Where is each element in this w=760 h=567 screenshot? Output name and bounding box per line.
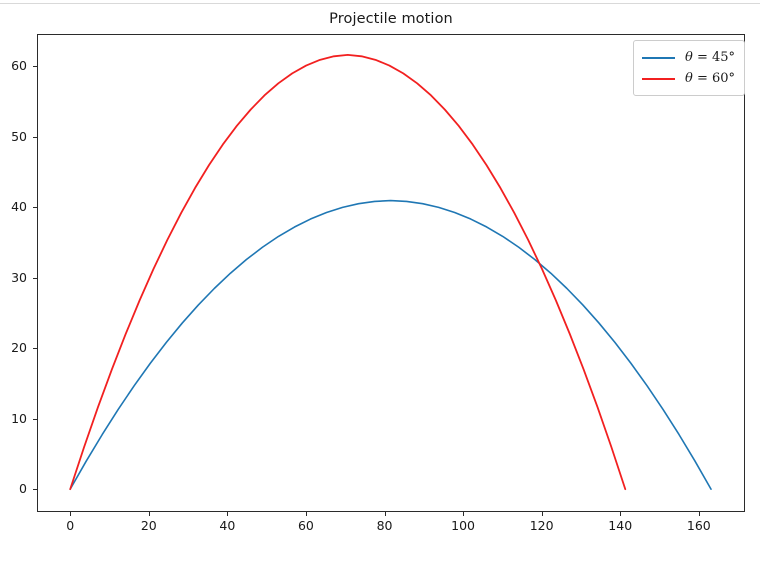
plot-curves-svg [38, 35, 744, 511]
top-divider-rule [0, 3, 760, 4]
x-tick-label-2: 40 [197, 518, 257, 533]
y-tick-label-0: 0 [0, 481, 27, 496]
x-tick-mark-8 [699, 512, 700, 516]
y-tick-mark-5 [33, 137, 37, 138]
y-tick-label-6: 60 [0, 58, 27, 73]
legend-swatch-series-1 [642, 78, 675, 80]
legend-swatch-series-0 [642, 57, 675, 59]
matplotlib-figure: Projectile motion 020406080100120140160 … [0, 5, 760, 567]
y-tick-mark-4 [33, 207, 37, 208]
y-tick-label-3: 30 [0, 270, 27, 285]
x-tick-label-6: 120 [512, 518, 572, 533]
series-curve-1 [70, 55, 625, 489]
y-tick-mark-3 [33, 278, 37, 279]
y-tick-label-4: 40 [0, 199, 27, 214]
x-tick-mark-2 [227, 512, 228, 516]
legend-item-series-0[interactable]: θ = 45° [642, 47, 735, 68]
x-tick-mark-4 [385, 512, 386, 516]
chart-legend[interactable]: θ = 45° θ = 60° [633, 40, 745, 96]
x-tick-label-5: 100 [433, 518, 493, 533]
screenshot-root: Projectile motion 020406080100120140160 … [0, 0, 760, 567]
y-tick-label-1: 10 [0, 411, 27, 426]
plot-area [37, 34, 745, 512]
legend-label-series-1: θ = 60° [685, 71, 735, 86]
x-tick-mark-1 [149, 512, 150, 516]
x-tick-mark-7 [620, 512, 621, 516]
x-tick-mark-3 [306, 512, 307, 516]
x-tick-mark-5 [463, 512, 464, 516]
y-tick-label-5: 50 [0, 129, 27, 144]
x-tick-label-8: 160 [669, 518, 729, 533]
y-tick-mark-1 [33, 419, 37, 420]
y-tick-mark-6 [33, 66, 37, 67]
x-tick-mark-6 [542, 512, 543, 516]
y-tick-mark-2 [33, 348, 37, 349]
y-tick-mark-0 [33, 489, 37, 490]
x-tick-label-7: 140 [590, 518, 650, 533]
x-tick-label-3: 60 [276, 518, 336, 533]
x-tick-label-1: 20 [119, 518, 179, 533]
x-tick-mark-0 [70, 512, 71, 516]
chart-title: Projectile motion [37, 11, 745, 27]
x-tick-label-0: 0 [40, 518, 100, 533]
legend-label-series-0: θ = 45° [685, 50, 735, 65]
x-tick-label-4: 80 [355, 518, 415, 533]
y-tick-label-2: 20 [0, 340, 27, 355]
legend-item-series-1[interactable]: θ = 60° [642, 68, 735, 89]
